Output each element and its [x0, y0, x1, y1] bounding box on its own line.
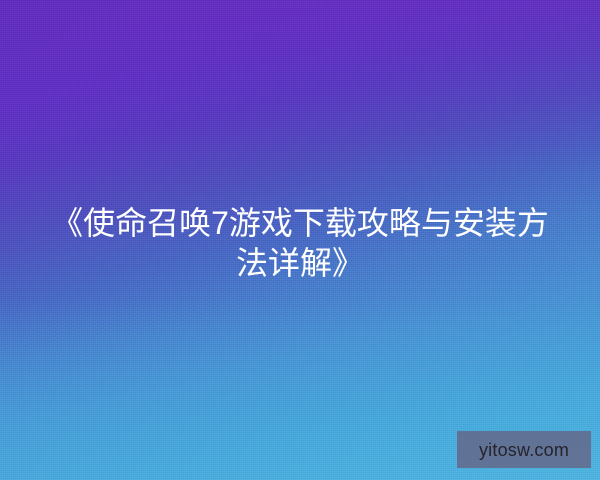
watermark-badge: yitosw.com [457, 431, 591, 468]
watermark-label: yitosw.com [479, 441, 569, 459]
page-title: 《使命召唤7游戏下载攻略与安装方法详解》 [38, 203, 562, 283]
poster-canvas: 《使命召唤7游戏下载攻略与安装方法详解》 yitosw.com [0, 0, 600, 480]
